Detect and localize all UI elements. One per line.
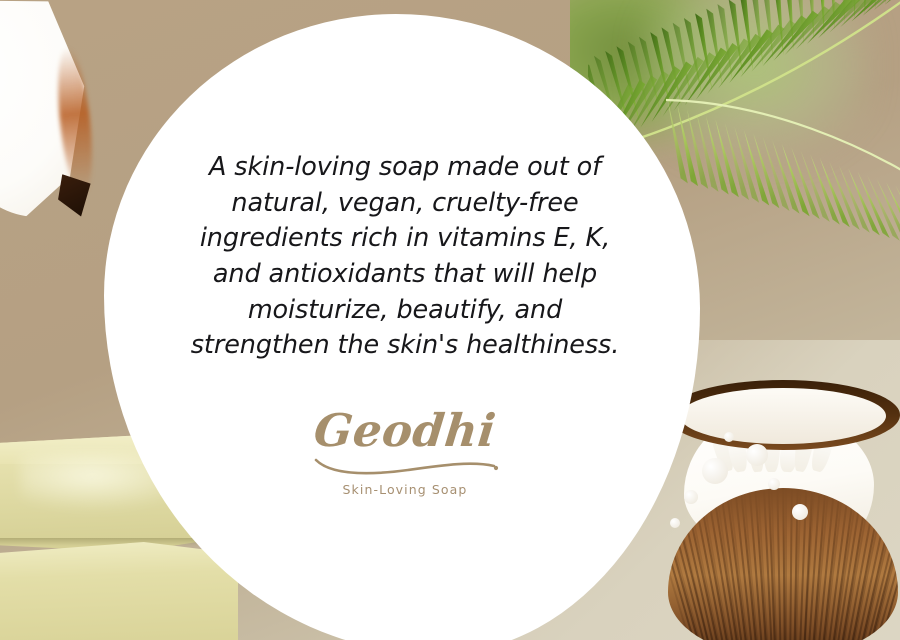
- brand-tagline: Skin-Loving Soap: [140, 482, 670, 497]
- palm-frond-light: [666, 92, 900, 260]
- poster-canvas: A skin-loving soap made out of natural, …: [0, 0, 900, 640]
- soap-bar-bottom: [0, 542, 238, 640]
- product-description: A skin-loving soap made out of natural, …: [140, 150, 670, 364]
- coconut-inner-flesh: [680, 388, 886, 444]
- brand-logo-mark: Geodhi: [290, 404, 520, 474]
- brand-logo-swash-icon: [312, 454, 500, 476]
- coconut-milk-image: [650, 386, 900, 640]
- card-content: A skin-loving soap made out of natural, …: [140, 150, 670, 497]
- brand-name: Geodhi: [287, 404, 523, 457]
- brand-logo[interactable]: Geodhi Skin-Loving Soap: [140, 404, 670, 497]
- coconut-husk-shell: [668, 488, 898, 640]
